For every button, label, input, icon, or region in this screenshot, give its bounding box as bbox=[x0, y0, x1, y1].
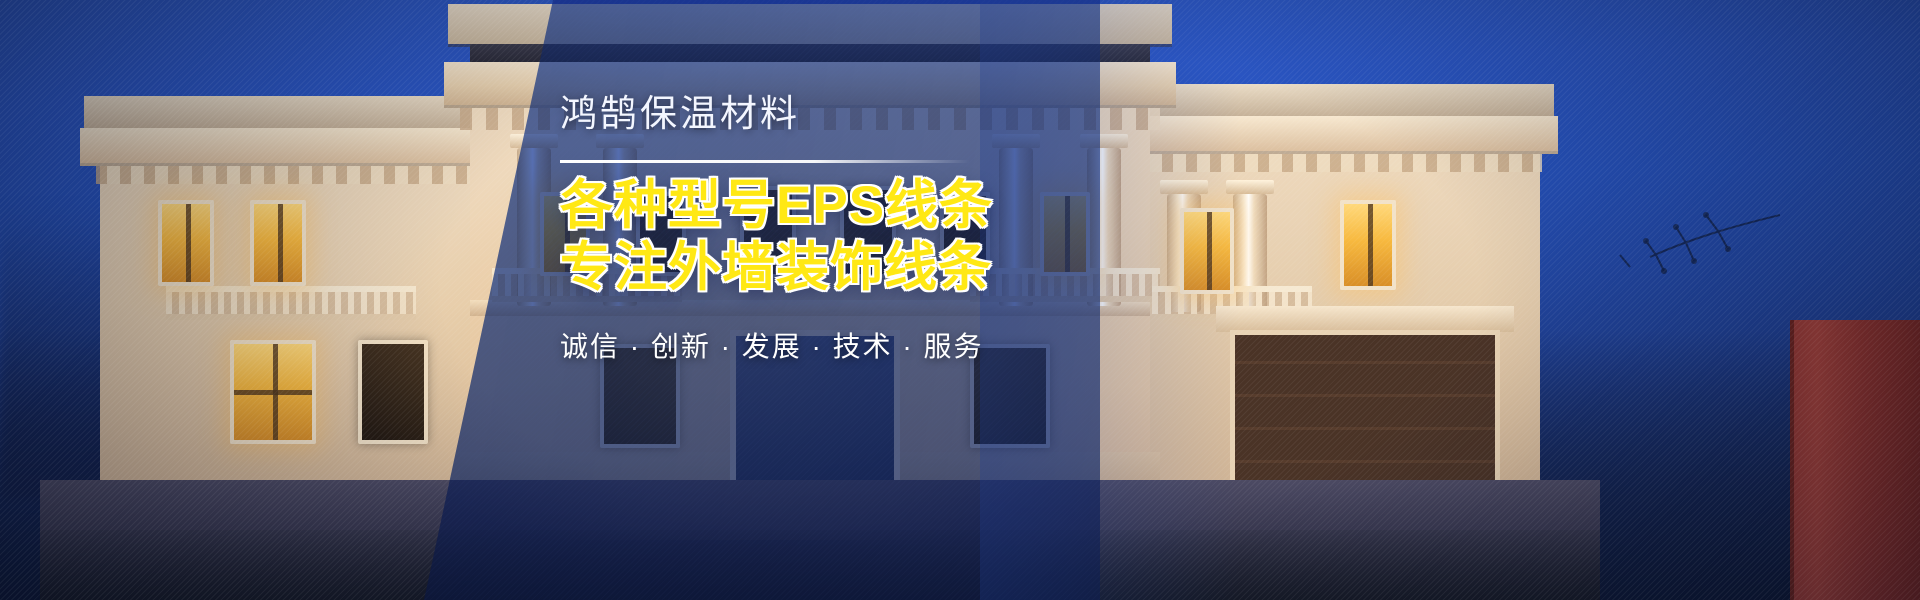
window-lit bbox=[158, 200, 214, 286]
brand-name: 鸿鹄保温材料 bbox=[560, 92, 1030, 136]
window bbox=[358, 340, 428, 444]
tagline: 诚信 · 创新 · 发展 · 技术 · 服务 bbox=[560, 325, 1030, 365]
headline-line-2: 专注外墙装饰线条 bbox=[560, 237, 1030, 299]
left-wing-dentils bbox=[96, 166, 486, 184]
right-wing-roof bbox=[1126, 84, 1554, 116]
hero-banner: 鸿鹄保温材料 各种型号EPS线条 专注外墙装饰线条 诚信 · 创新 · 发展 ·… bbox=[0, 0, 1920, 600]
window-lit bbox=[1180, 208, 1234, 294]
balustrade bbox=[166, 286, 416, 320]
garage-lintel bbox=[1216, 306, 1514, 332]
headline-line-1: 各种型号EPS线条 bbox=[560, 175, 1030, 237]
column-capital bbox=[1226, 180, 1274, 194]
window-lit bbox=[1340, 200, 1396, 290]
window-lit bbox=[230, 340, 316, 444]
header-divider bbox=[560, 160, 970, 163]
left-wing-roof bbox=[84, 96, 496, 128]
right-wing-dentils bbox=[1138, 154, 1542, 172]
column-capital bbox=[1160, 180, 1208, 194]
banner-copy: 鸿鹄保温材料 各种型号EPS线条 专注外墙装饰线条 诚信 · 创新 · 发展 ·… bbox=[560, 92, 1030, 365]
left-wing-cornice bbox=[80, 128, 500, 166]
window-lit bbox=[250, 200, 306, 286]
right-wing-cornice bbox=[1122, 116, 1558, 154]
red-container bbox=[1790, 320, 1920, 600]
